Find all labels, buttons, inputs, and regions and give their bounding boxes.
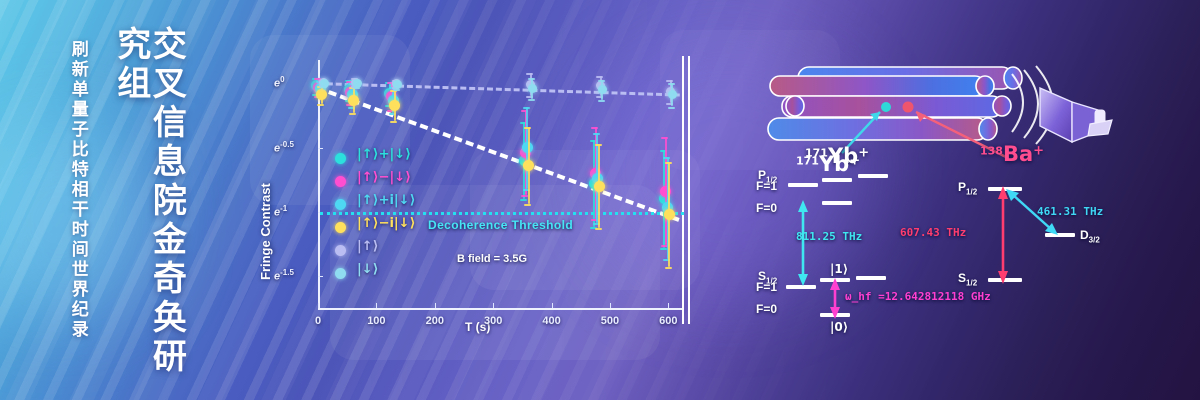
x-tick bbox=[493, 303, 494, 308]
x-tick bbox=[552, 303, 553, 308]
error-bar-cap bbox=[317, 104, 324, 106]
y-tick-label: e-1 bbox=[274, 204, 287, 219]
legend-swatch bbox=[335, 153, 346, 164]
legend-swatch bbox=[335, 245, 346, 256]
legend-swatch bbox=[335, 222, 346, 233]
y-tick bbox=[318, 276, 323, 277]
data-point[interactable] bbox=[594, 181, 605, 192]
error-bar-cap bbox=[520, 199, 527, 201]
ba-607-arrow bbox=[998, 186, 1008, 284]
x-axis bbox=[318, 308, 684, 310]
x-tick-label: 600 bbox=[648, 315, 688, 327]
x-tick-label: 300 bbox=[473, 315, 513, 327]
trap-rod-lower bbox=[768, 118, 997, 140]
threshold-line bbox=[320, 212, 684, 215]
ba-461-arrow bbox=[1006, 189, 1058, 235]
legend-label: |↑⟩−|↓⟩ bbox=[357, 170, 411, 185]
y-tick bbox=[318, 148, 323, 149]
error-bar-cap bbox=[528, 78, 535, 80]
error-bar-cap bbox=[526, 73, 533, 75]
data-point[interactable] bbox=[353, 79, 362, 88]
x-tick bbox=[435, 303, 436, 308]
legend-label: |↑⟩+|↓⟩ bbox=[357, 147, 411, 162]
legend-swatch bbox=[335, 268, 346, 279]
poster-subtitle: 刷新单量子比特相干时间世界纪录 bbox=[68, 40, 87, 340]
data-point[interactable] bbox=[664, 209, 675, 220]
error-bar-cap bbox=[595, 228, 602, 230]
data-point[interactable] bbox=[389, 100, 400, 111]
y-axis-label: Fringe Contrast bbox=[258, 183, 273, 280]
x-tick-label: 500 bbox=[590, 315, 630, 327]
detector-horn-icon bbox=[1040, 88, 1112, 142]
x-tick bbox=[668, 303, 669, 308]
y-tick-label: e0 bbox=[274, 75, 285, 90]
error-bar-cap bbox=[524, 204, 531, 206]
error-bar-cap bbox=[661, 137, 668, 139]
plot-right-edge-outer bbox=[688, 56, 690, 324]
error-bar-cap bbox=[591, 127, 598, 129]
plot-right-edge-inner bbox=[682, 56, 684, 324]
fit-line-population-fit bbox=[318, 82, 680, 97]
yb-hyperfine-arrow bbox=[830, 278, 840, 319]
error-bar-cap bbox=[598, 80, 605, 82]
error-bar-cap bbox=[598, 100, 605, 102]
x-tick-label: 200 bbox=[415, 315, 455, 327]
error-bar-cap bbox=[660, 248, 667, 250]
error-bar-cap bbox=[523, 107, 530, 109]
error-bar-cap bbox=[595, 144, 602, 146]
error-bar-cap bbox=[668, 107, 675, 109]
x-tick bbox=[376, 303, 377, 308]
legend-label: |↑⟩+i|↓⟩ bbox=[357, 193, 416, 208]
data-point[interactable] bbox=[528, 84, 537, 93]
x-tick-label: 100 bbox=[356, 315, 396, 327]
error-bar-cap bbox=[665, 162, 672, 164]
data-point[interactable] bbox=[316, 89, 327, 100]
error-bar-cap bbox=[665, 267, 672, 269]
error-bar-cap bbox=[390, 121, 397, 123]
yb-811-arrow bbox=[798, 200, 808, 286]
y-tick-label: e-1.5 bbox=[274, 268, 294, 283]
error-bar-cap bbox=[349, 113, 356, 115]
poster-canvas: 交叉信息院金奇奂研究组 刷新单量子比特相干时间世界纪录 Fringe Contr… bbox=[0, 0, 1200, 400]
data-point[interactable] bbox=[320, 79, 329, 88]
data-point[interactable] bbox=[668, 90, 677, 99]
error-bar-cap bbox=[666, 80, 673, 82]
x-tick-label: 400 bbox=[532, 315, 572, 327]
legend-swatch bbox=[335, 176, 346, 187]
trap-rod-upper bbox=[770, 76, 994, 96]
ba-ion-dot bbox=[903, 102, 914, 113]
x-tick-label: 0 bbox=[298, 315, 338, 327]
legend-label: |↓⟩ bbox=[357, 262, 379, 277]
b-field-label: B field = 3.5G bbox=[457, 253, 527, 265]
x-tick bbox=[318, 303, 319, 308]
energy-level-diagram: P1/2 F=1 F=0 S1/2 F=1 F=0 171Yb+ |1⟩ |0⟩… bbox=[740, 150, 1200, 365]
legend-swatch bbox=[335, 199, 346, 210]
data-point[interactable] bbox=[348, 95, 359, 106]
y-tick-label: e-0.5 bbox=[274, 140, 294, 155]
error-bar-cap bbox=[663, 157, 670, 159]
error-bar-cap bbox=[528, 99, 535, 101]
x-tick bbox=[610, 303, 611, 308]
yb-ion-dot bbox=[881, 102, 891, 112]
error-bar-cap bbox=[596, 76, 603, 78]
coherence-chart: Fringe Contrast T (s) 010020030040050060… bbox=[250, 40, 700, 370]
data-point[interactable] bbox=[393, 80, 402, 89]
decoherence-threshold-label: Decoherence Threshold bbox=[428, 218, 573, 232]
legend-label: |↑⟩−i|↓⟩ bbox=[357, 216, 416, 231]
error-bar-cap bbox=[524, 127, 531, 129]
level-arrows-svg bbox=[740, 150, 1200, 365]
poster-title: 交叉信息院金奇奂研究组 bbox=[112, 26, 183, 400]
trap-rod-middle bbox=[782, 96, 1011, 117]
legend-label: |↑⟩ bbox=[357, 239, 379, 254]
data-point[interactable] bbox=[523, 160, 534, 171]
